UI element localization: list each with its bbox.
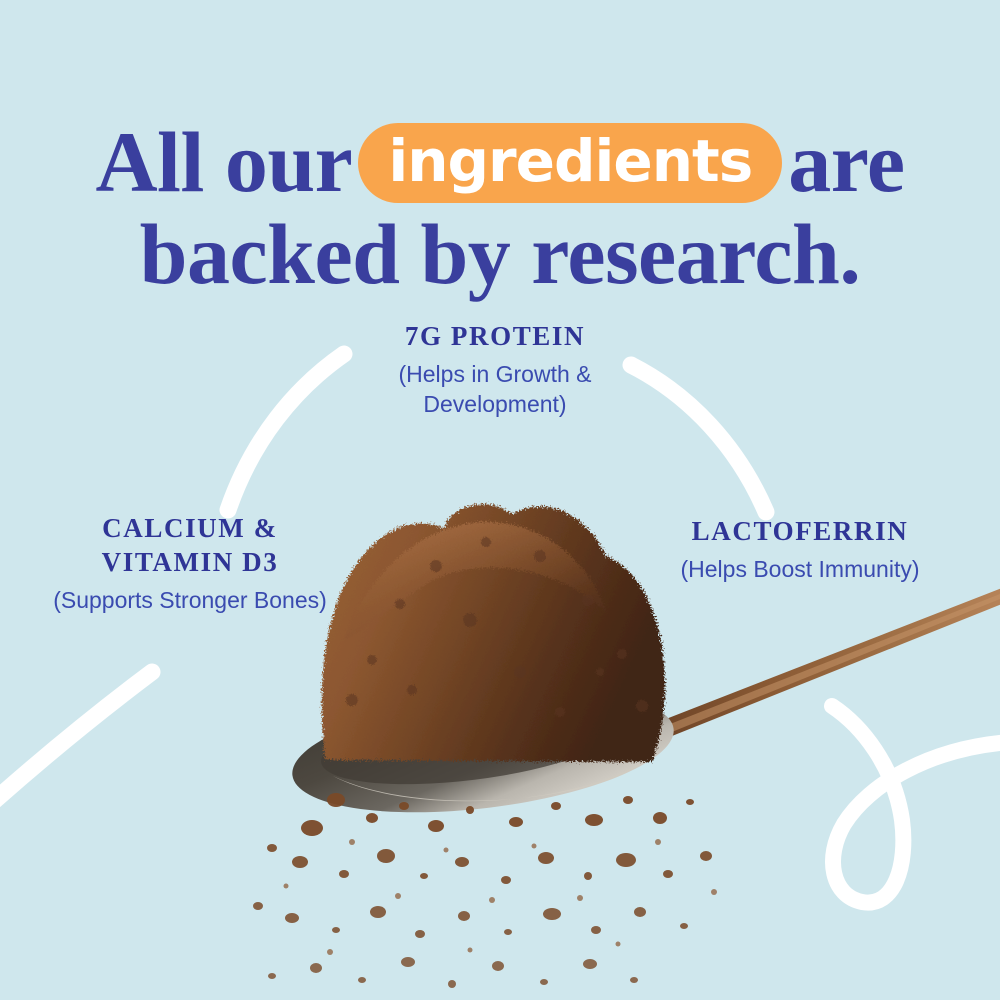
powder-texture <box>346 537 648 717</box>
callout-calcium: CALCIUM & VITAMIN D3 (Supports Stronger … <box>45 512 335 615</box>
headline-part-2: are <box>788 114 904 210</box>
headline-line-1: All ouringredientsare <box>0 120 1000 204</box>
falling-powder-crumbs <box>253 793 717 988</box>
callout-calcium-title: CALCIUM & VITAMIN D3 <box>45 512 335 580</box>
spoon-bowl <box>286 673 681 831</box>
callout-calcium-subtitle: (Supports Stronger Bones) <box>45 586 335 616</box>
page-title: All ouringredientsare backed by research… <box>0 120 1000 297</box>
callout-lactoferrin: LACTOFERRIN (Helps Boost Immunity) <box>640 515 960 585</box>
spoon-handle <box>648 588 1000 744</box>
ingredients-infographic: All ouringredientsare backed by research… <box>0 0 1000 1000</box>
arc-top-left-icon <box>228 354 344 510</box>
swirl-bottom-right-icon <box>832 706 1000 903</box>
headline-part-1: All our <box>95 114 352 210</box>
headline-line-2: backed by research. <box>0 212 1000 296</box>
highlight-pill: ingredients <box>358 123 782 203</box>
callout-protein: 7G PROTEIN (Helps in Growth & Developmen… <box>345 320 645 420</box>
callout-protein-subtitle: (Helps in Growth & Development) <box>345 360 645 420</box>
arc-bottom-left-icon <box>0 672 152 810</box>
callout-lactoferrin-title: LACTOFERRIN <box>640 515 960 549</box>
arc-top-right-icon <box>631 365 766 512</box>
powder-mound <box>322 504 665 762</box>
callout-lactoferrin-subtitle: (Helps Boost Immunity) <box>640 555 960 585</box>
callout-protein-title: 7G PROTEIN <box>345 320 645 354</box>
product-photo-alt: Heaped spoon of brown protein powder wit… <box>0 0 1 1</box>
